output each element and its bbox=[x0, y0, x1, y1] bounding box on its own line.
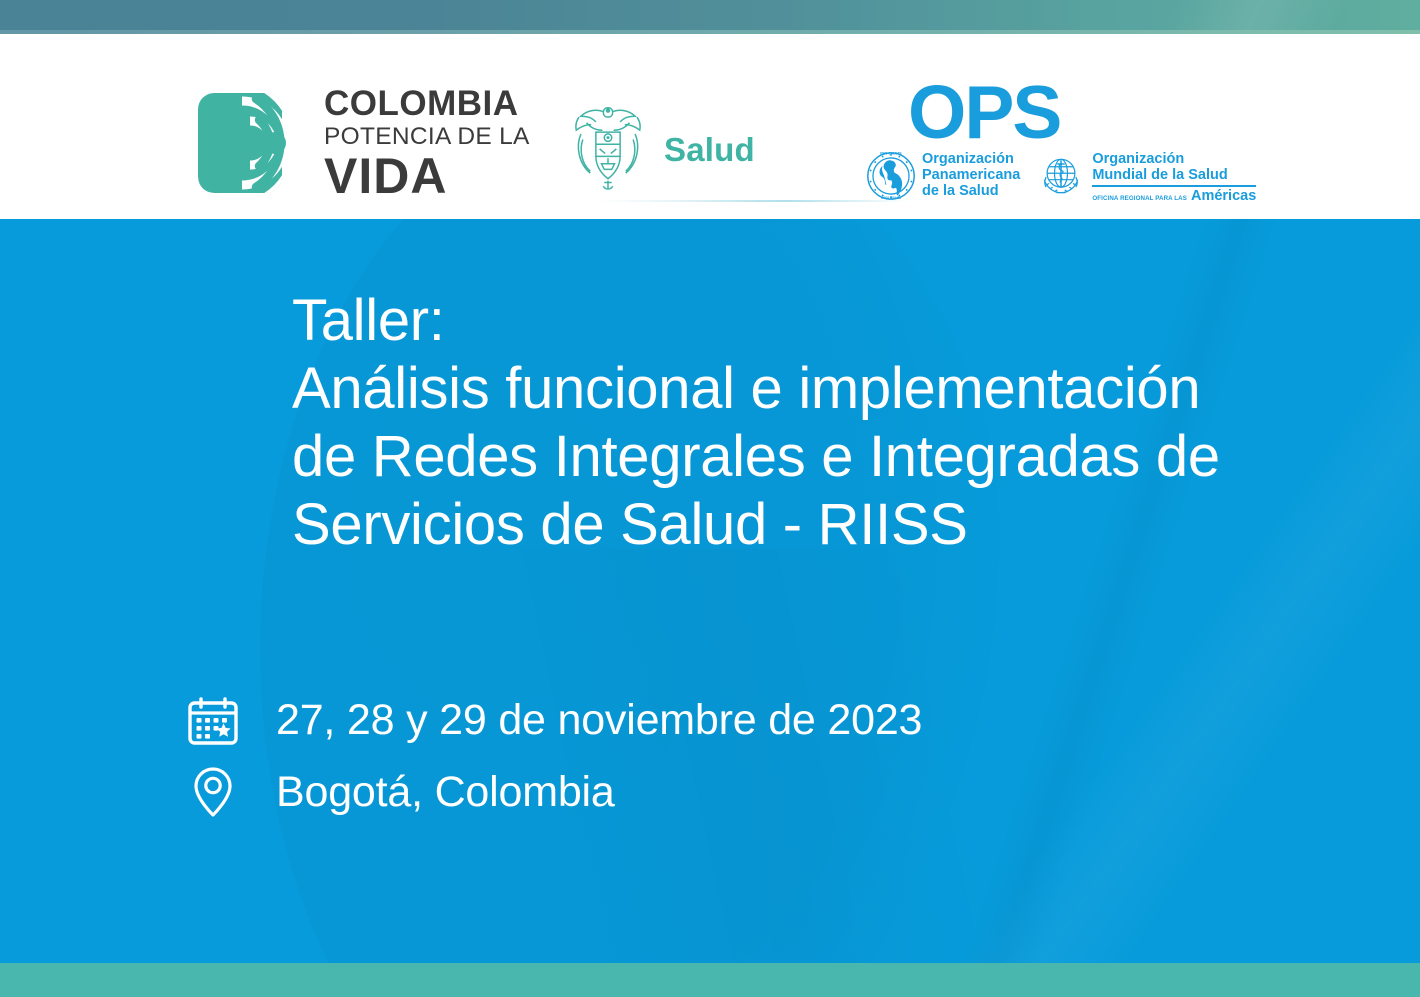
who-americas-label: Américas bbox=[1191, 188, 1256, 204]
ops-acronym: OPS bbox=[908, 78, 1216, 147]
colombia-line-1: COLOMBIA bbox=[324, 86, 530, 121]
map-pin-icon bbox=[182, 761, 244, 823]
event-date-row: 27, 28 y 29 de noviembre de 2023 bbox=[182, 684, 922, 756]
event-date-text: 27, 28 y 29 de noviembre de 2023 bbox=[276, 696, 922, 745]
who-line-2: Mundial de la Salud bbox=[1092, 167, 1256, 183]
event-title: Taller: Análisis funcional e implementac… bbox=[292, 287, 1382, 558]
who-regional-office-label: OFICINA REGIONAL PARA LAS bbox=[1092, 196, 1187, 203]
who-name: Organización Mundial de la Salud OFICINA… bbox=[1092, 151, 1256, 205]
event-poster: COLOMBIA POTENCIA DE LA VIDA bbox=[0, 0, 1420, 997]
paho-name: Organización Panamericana de la Salud bbox=[922, 151, 1020, 200]
paho-line-3: de la Salud bbox=[922, 183, 1020, 199]
logo-ministerio-salud: Salud bbox=[566, 102, 755, 197]
who-lockup: Organización Mundial de la Salud OFICINA… bbox=[1036, 151, 1256, 206]
svg-text:PRO SALUTE: PRO SALUTE bbox=[880, 151, 902, 155]
colombia-wordmark: COLOMBIA POTENCIA DE LA VIDA bbox=[324, 86, 530, 201]
colombia-potencia-vida-mark-icon bbox=[196, 87, 308, 199]
event-location-text: Bogotá, Colombia bbox=[276, 768, 615, 817]
salud-wordmark: Salud bbox=[664, 131, 755, 169]
who-line-1: Organización bbox=[1092, 151, 1256, 167]
colombia-line-3: VIDA bbox=[324, 151, 530, 201]
paho-line-1: Organización bbox=[922, 151, 1020, 167]
logo-ops-paho: OPS bbox=[866, 78, 1216, 206]
colombia-coat-of-arms-icon bbox=[566, 102, 650, 197]
logo-colombia-potencia-de-la-vida: COLOMBIA POTENCIA DE LA VIDA bbox=[196, 86, 530, 201]
hero-panel: Taller: Análisis funcional e implementac… bbox=[0, 219, 1420, 963]
paho-line-2: Panamericana bbox=[922, 167, 1020, 183]
paho-lockup: PRO SALUTE NOVI MUNDI Organización Panam… bbox=[866, 151, 1020, 206]
event-meta: 27, 28 y 29 de noviembre de 2023 Bogotá,… bbox=[182, 684, 922, 828]
top-bar-swoosh-decoration bbox=[1000, 0, 1420, 34]
event-location-row: Bogotá, Colombia bbox=[182, 756, 922, 828]
colombia-line-2: POTENCIA DE LA bbox=[324, 125, 530, 150]
paho-seal-icon: PRO SALUTE NOVI MUNDI bbox=[866, 151, 916, 206]
bottom-teal-bar bbox=[0, 963, 1420, 997]
top-gradient-bar bbox=[0, 0, 1420, 34]
who-emblem-icon bbox=[1036, 151, 1086, 206]
svg-text:NOVI MUNDI: NOVI MUNDI bbox=[881, 196, 901, 200]
faint-accent-line bbox=[600, 200, 910, 202]
calendar-icon bbox=[182, 689, 244, 751]
logo-band: COLOMBIA POTENCIA DE LA VIDA bbox=[0, 34, 1420, 219]
